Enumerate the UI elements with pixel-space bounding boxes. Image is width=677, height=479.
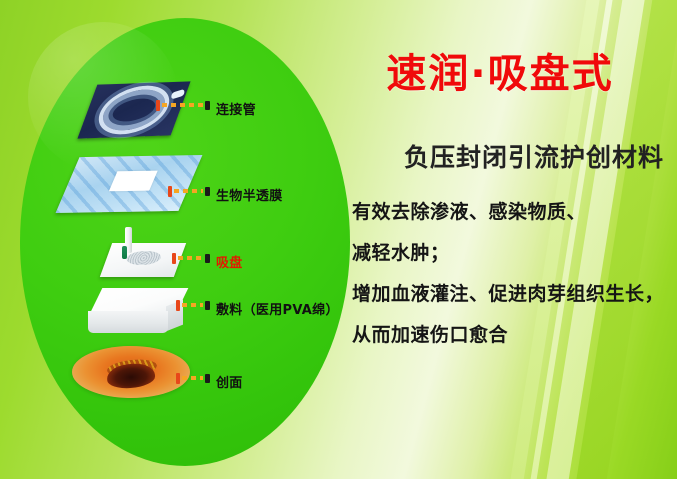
leader-line-wound bbox=[176, 376, 210, 380]
leader-line-dressing bbox=[176, 303, 210, 307]
leader-endpoint-dot bbox=[205, 301, 210, 310]
benefit-line-2: 减轻水肿； bbox=[352, 233, 672, 274]
leader-dashes bbox=[182, 303, 203, 307]
benefit-line-4: 从而加速伤口愈合 bbox=[352, 315, 672, 356]
semipermeable-membrane-sheet-image bbox=[56, 155, 203, 213]
poster-canvas: 连接管 生物半透膜 吸盘 敷料（医用PVA绵） 创面 速润·吸盘式 bbox=[0, 0, 677, 479]
leader-endpoint-dot bbox=[205, 374, 210, 383]
benefit-line-3: 增加血液灌注、促进肉芽组织生长， bbox=[352, 274, 672, 315]
suction-cup-ribbed-disc bbox=[124, 251, 163, 265]
leader-tick-icon bbox=[156, 100, 160, 111]
wound-photo-image bbox=[72, 346, 190, 398]
leader-dashes bbox=[162, 103, 203, 107]
leader-dashes bbox=[174, 189, 203, 193]
tube-connector-tip bbox=[171, 89, 184, 100]
label-wound: 创面 bbox=[216, 372, 243, 391]
poster-subtitle: 负压封闭引流护创材料 bbox=[330, 138, 664, 174]
membrane-window-cutout bbox=[109, 170, 158, 191]
poster-title: 速润·吸盘式 bbox=[330, 52, 670, 96]
leader-tick-icon bbox=[176, 300, 180, 311]
benefit-line-1: 有效去除渗液、感染物质、 bbox=[352, 192, 672, 233]
tube-coil-shape bbox=[94, 81, 174, 140]
leader-dashes bbox=[182, 376, 203, 380]
label-suction-cup: 吸盘 bbox=[216, 252, 243, 271]
leader-line-cup bbox=[172, 256, 210, 260]
leader-endpoint-dot bbox=[205, 187, 210, 196]
label-dressing: 敷料（医用PVA绵） bbox=[216, 299, 339, 318]
benefits-text-block: 有效去除渗液、感染物质、 减轻水肿； 增加血液灌注、促进肉芽组织生长， 从而加速… bbox=[352, 192, 672, 356]
pva-foam-front-face bbox=[88, 311, 168, 333]
leader-tick-icon bbox=[168, 186, 172, 197]
label-tube: 连接管 bbox=[216, 99, 256, 118]
leader-endpoint-dot bbox=[205, 254, 210, 263]
leader-line-tube bbox=[156, 103, 210, 107]
label-membrane: 生物半透膜 bbox=[216, 185, 283, 204]
leader-endpoint-dot bbox=[205, 101, 210, 110]
leader-dashes bbox=[178, 256, 203, 260]
leader-tick-icon bbox=[172, 253, 176, 264]
leader-line-membrane bbox=[168, 189, 210, 193]
suction-cup-green-collar bbox=[122, 246, 127, 259]
leader-tick-icon bbox=[176, 373, 180, 384]
